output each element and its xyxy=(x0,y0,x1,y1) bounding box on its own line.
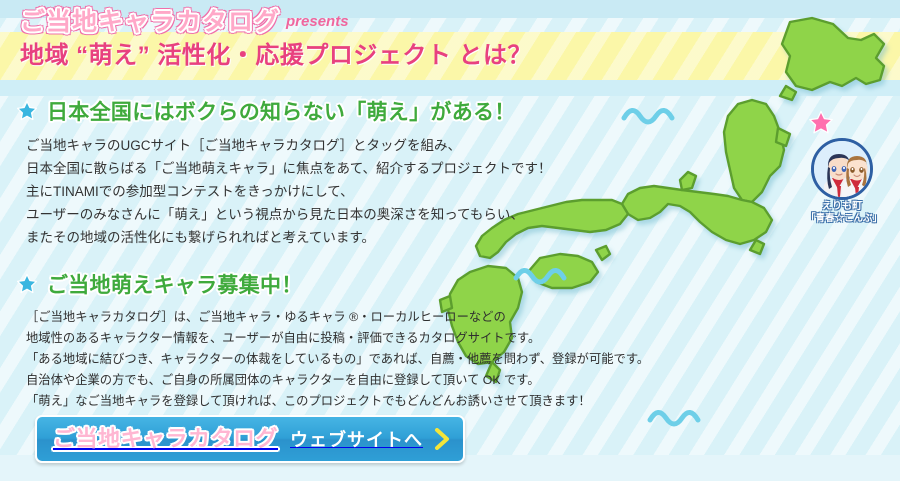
wave-decoration-3 xyxy=(650,412,698,424)
character-avatar xyxy=(811,138,873,200)
body-line: ［ご当地キャラカタログ］は、ご当地キャラ・ゆるキャラ ®・ローカルヒーローなどの xyxy=(26,307,560,328)
body-line: 主にTINAMIでの参加型コンテストをきっかけにして、 xyxy=(26,180,560,203)
body-line: またその地域の活性化にも繋げられればと考えています。 xyxy=(26,226,560,249)
wave-decoration-1 xyxy=(624,110,672,122)
cta-brand-logo: ご当地キャラカタログ xyxy=(53,426,278,452)
promo-banner: ご当地キャラカタログ presents 地域 “萌え” 活性化・応援プロジェクト… xyxy=(0,0,900,481)
character-illustration xyxy=(814,141,873,200)
website-cta-button[interactable]: ご当地キャラカタログ ウェブサイトへ xyxy=(35,415,465,463)
section-1: 日本全国にはボクらの知らない「萌え」がある！ ご当地キャラのUGCサイト［ご当地… xyxy=(0,96,560,249)
star-icon xyxy=(16,100,38,122)
body-line: 地域性のあるキャラクター情報を、ユーザーが自由に投稿・評価できるカタログサイトで… xyxy=(26,328,560,349)
page-title: 地域 “萌え” 活性化・応援プロジェクト とは？ xyxy=(20,40,660,72)
section-1-heading: 日本全国にはボクらの知らない「萌え」がある！ xyxy=(47,96,516,126)
chevron-right-icon xyxy=(433,428,451,450)
section-1-body: ご当地キャラのUGCサイト［ご当地キャラカタログ］とタッグを組み、 日本全国に散… xyxy=(26,134,560,249)
section-2-heading: ご当地萌えキャラ募集中！ xyxy=(47,269,303,299)
presents-label: presents xyxy=(286,10,349,36)
body-line: 「萌え」なご当地キャラを登録して頂ければ、このプロジェクトでもどんどんお誘いさせ… xyxy=(26,391,560,412)
body-line: ユーザーのみなさんに「萌え」という視点から見た日本の奥深さを知ってもらい、 xyxy=(26,203,560,226)
section-1-heading-row: 日本全国にはボクらの知らない「萌え」がある！ xyxy=(16,96,560,126)
star-icon xyxy=(16,273,38,295)
body-line: ご当地キャラのUGCサイト［ご当地キャラカタログ］とタッグを組み、 xyxy=(26,134,560,157)
cta-label: ウェブサイトへ xyxy=(290,426,423,452)
section-2-heading-row: ご当地萌えキャラ募集中！ xyxy=(16,269,560,299)
star-pin-icon xyxy=(808,110,834,136)
brand-logo: ご当地キャラカタログ xyxy=(20,8,280,36)
brand-logo-row: ご当地キャラカタログ presents xyxy=(20,6,660,36)
body-line: 自治体や企業の方でも、ご自身の所属団体のキャラクターを自由に登録して頂いて OK… xyxy=(26,370,560,391)
character-badge[interactable]: えりも町 「青春☆こんぶ」 xyxy=(806,138,878,225)
character-town: えりも町 xyxy=(806,201,878,213)
header: ご当地キャラカタログ presents 地域 “萌え” 活性化・応援プロジェクト… xyxy=(20,6,660,72)
body-line: 日本全国に散らばる「ご当地萌えキャラ」に焦点をあて、紹介するプロジェクトです！ xyxy=(26,157,560,180)
body-line: 「ある地域に結びつき、キャラクターの体裁をしているもの」であれば、自薦・他薦を問… xyxy=(26,349,560,370)
character-title: 「青春☆こんぶ」 xyxy=(806,213,878,225)
section-2-body: ［ご当地キャラカタログ］は、ご当地キャラ・ゆるキャラ ®・ローカルヒーローなどの… xyxy=(26,307,560,412)
content: 日本全国にはボクらの知らない「萌え」がある！ ご当地キャラのUGCサイト［ご当地… xyxy=(0,96,560,412)
section-2: ご当地萌えキャラ募集中！ ［ご当地キャラカタログ］は、ご当地キャラ・ゆるキャラ … xyxy=(0,269,560,412)
